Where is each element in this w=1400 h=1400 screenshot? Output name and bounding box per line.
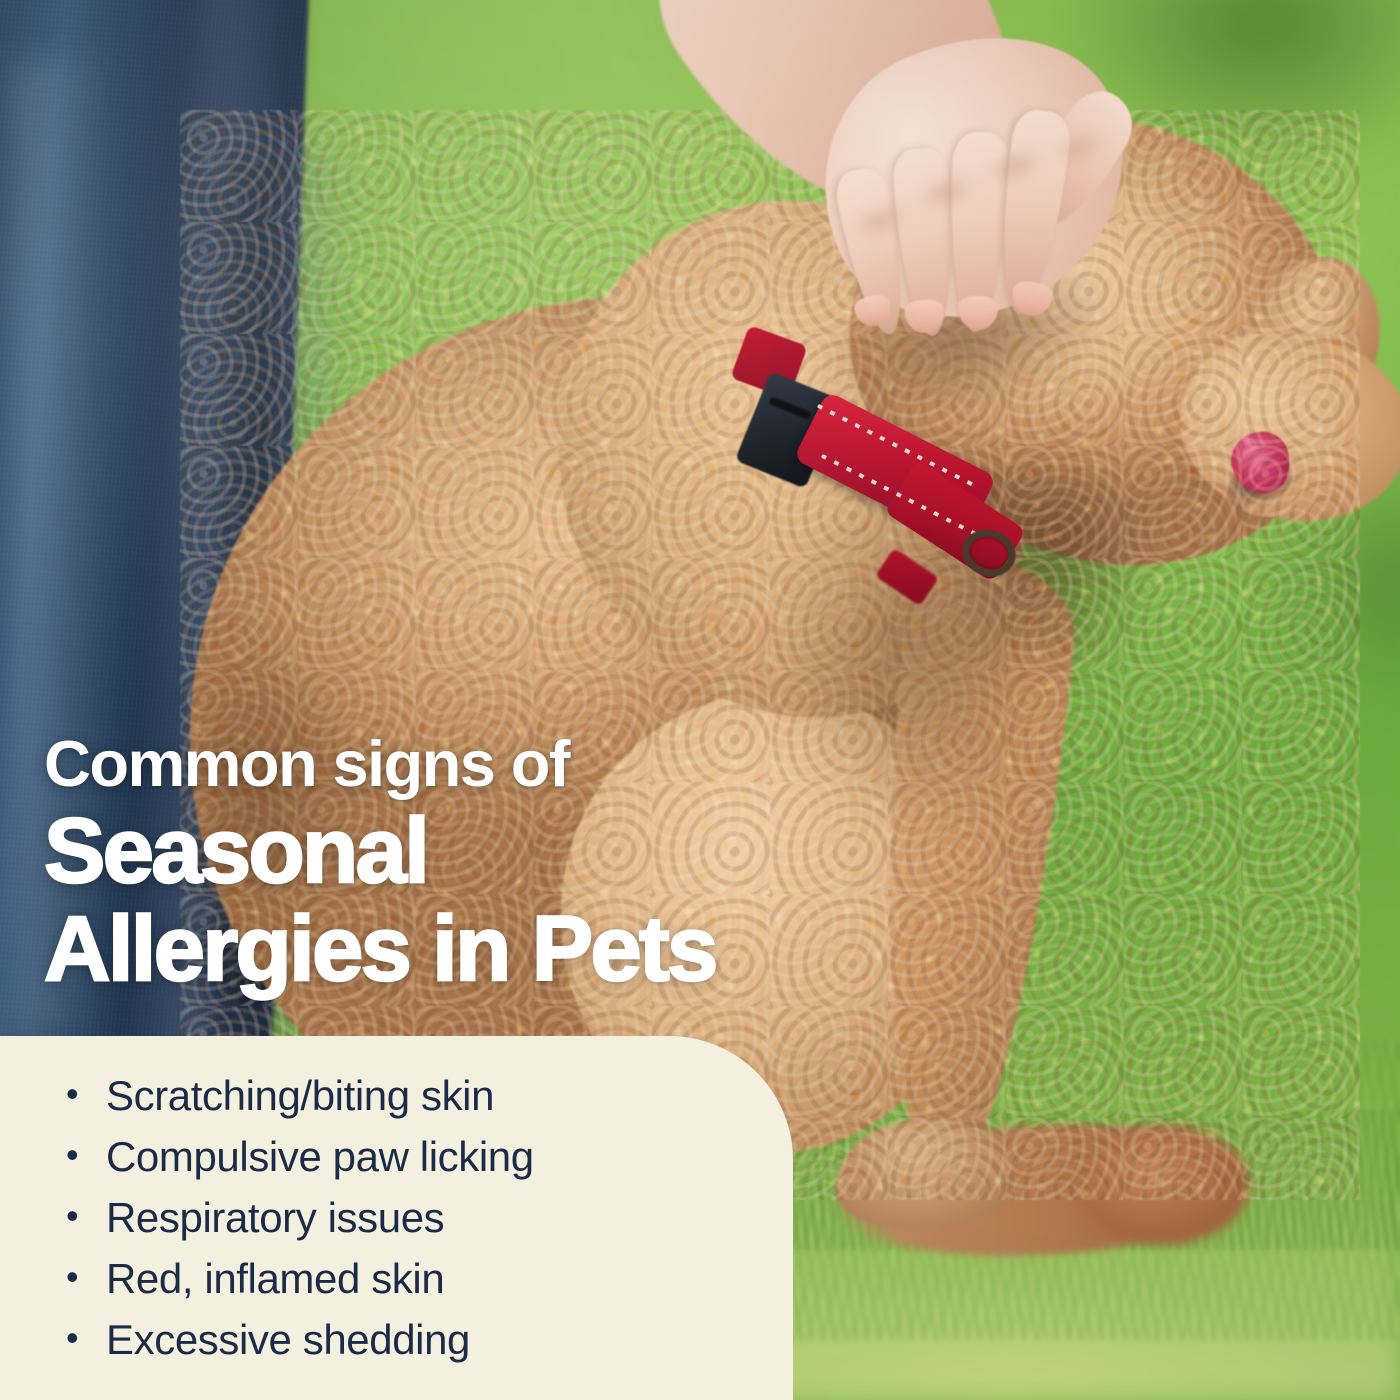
bullet-dot-icon: • [66,1198,106,1234]
list-item: • Respiratory issues [66,1192,766,1253]
list-item: • Scratching/biting skin [66,1070,766,1131]
symptom-label: Red, inflamed skin [106,1253,444,1305]
headline-block: Common signs of Seasonal Allergies in Pe… [44,728,716,998]
poster-canvas: Common signs of Seasonal Allergies in Pe… [0,0,1400,1400]
symptom-label: Scratching/biting skin [106,1070,494,1122]
bullet-dot-icon: • [66,1076,106,1112]
headline-kicker: Common signs of [44,728,716,800]
bullet-dot-icon: • [66,1320,106,1356]
list-item: • Red, inflamed skin [66,1253,766,1314]
headline-title-line-1: Seasonal [44,802,716,900]
list-item: • Excessive shedding [66,1314,766,1375]
symptom-list: • Scratching/biting skin • Compulsive pa… [66,1070,766,1375]
headline-title-line-2: Allergies in Pets [44,900,716,998]
bullet-dot-icon: • [66,1137,106,1173]
symptom-label: Excessive shedding [106,1314,470,1366]
list-item: • Compulsive paw licking [66,1131,766,1192]
bullet-dot-icon: • [66,1259,106,1295]
symptom-label: Respiratory issues [106,1192,444,1244]
symptom-label: Compulsive paw licking [106,1131,534,1183]
